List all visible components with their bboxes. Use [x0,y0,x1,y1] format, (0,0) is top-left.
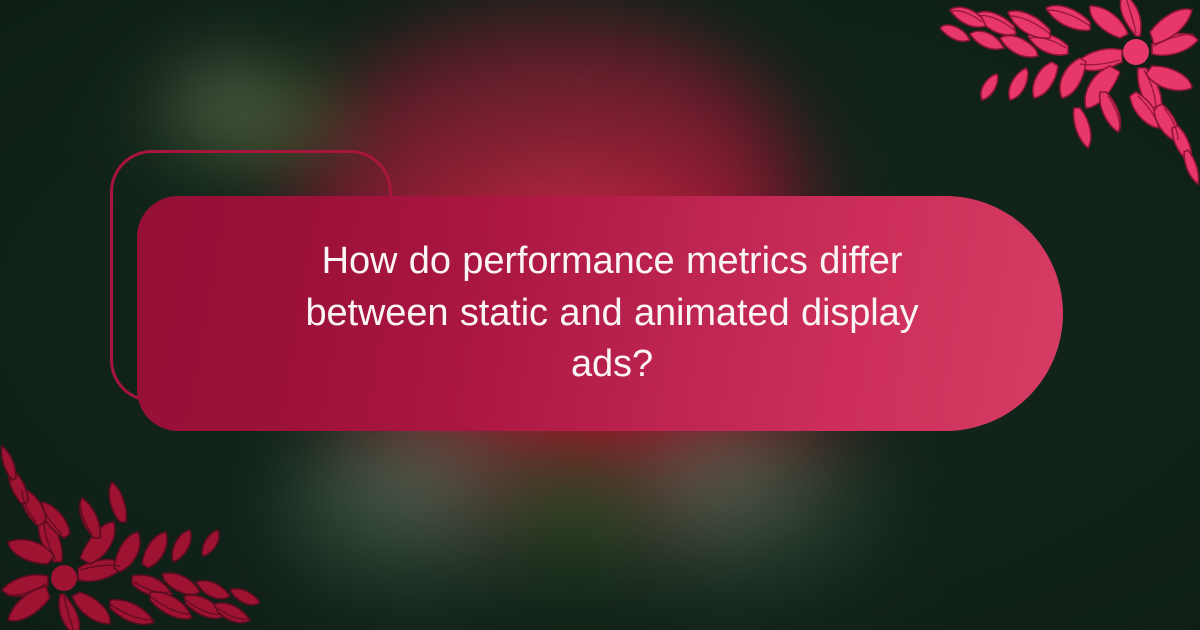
slide-canvas: How do performance metrics differ betwee… [0,0,1200,630]
question-card: How do performance metrics differ betwee… [137,196,1063,431]
question-text: How do performance metrics differ betwee… [137,196,1063,431]
